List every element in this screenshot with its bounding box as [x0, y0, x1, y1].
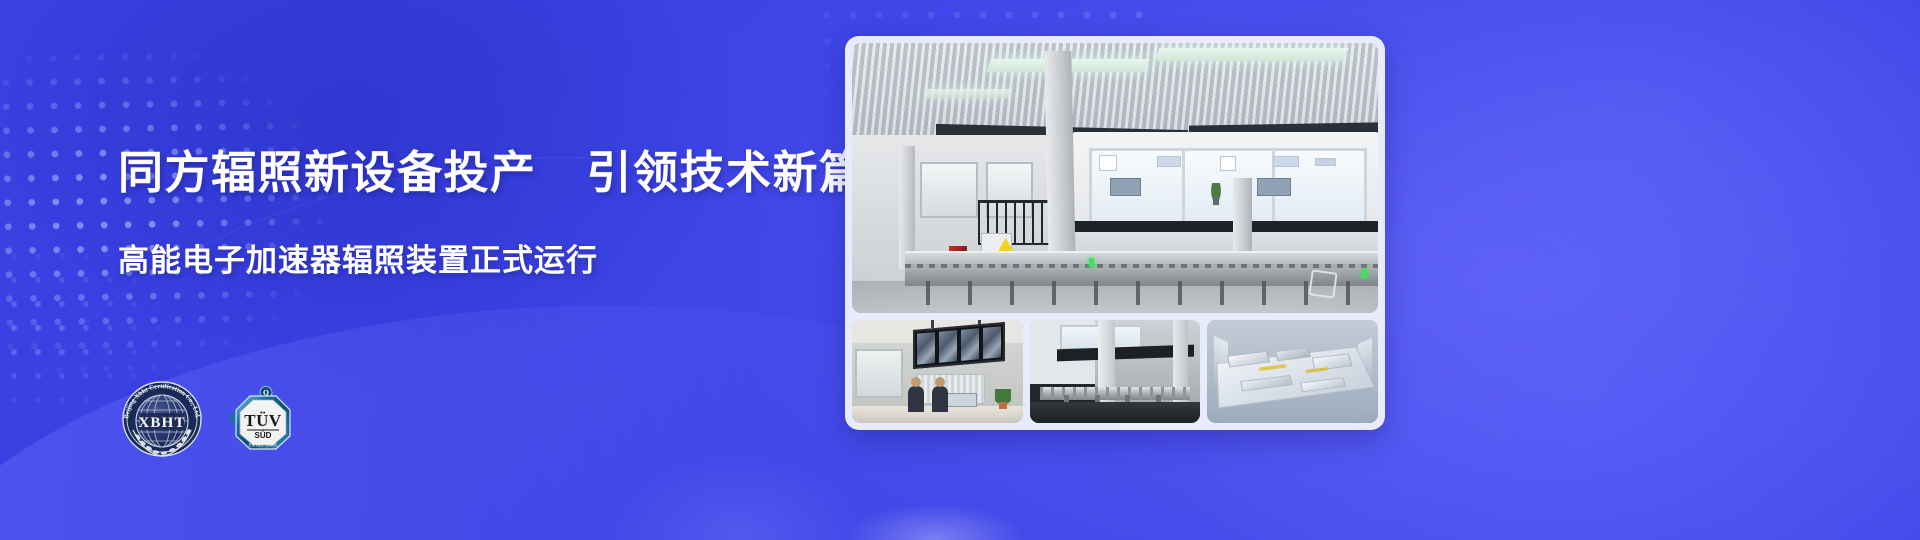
headline-primary: 同方辐照新设备投产 — [118, 147, 537, 198]
thumbnail-conveyor-system[interactable] — [1030, 320, 1201, 423]
banner-text-block: 同方辐照新设备投产 引领技术新篇章 高能电子加速器辐照装置正式运行 — [118, 146, 878, 281]
photo-collage — [845, 36, 1385, 430]
xbht-certification-icon: Beijing Xbht Certification Co., Ltd. XBH… — [118, 378, 206, 460]
svg-text:EN ISO 13485: EN ISO 13485 — [249, 443, 278, 448]
main-photo-irradiation-hall[interactable] — [852, 43, 1378, 313]
certification-logo-row: Beijing Xbht Certification Co., Ltd. XBH… — [118, 378, 292, 460]
tuv-sud-certification-icon: Q TÜV SÜD EN ISO 13485 — [230, 386, 292, 452]
thumbnail-control-room[interactable] — [852, 320, 1023, 423]
svg-text:SÜD: SÜD — [255, 431, 272, 440]
thumbnail-row — [852, 320, 1378, 423]
banner-subheadline: 高能电子加速器辐照装置正式运行 — [118, 242, 878, 281]
facility-3d-render-illustration — [1207, 320, 1378, 423]
decorative-arc-bottom — [820, 494, 1050, 540]
banner-headline: 同方辐照新设备投产 引领技术新篇章 — [118, 146, 878, 200]
promo-banner: 同方辐照新设备投产 引领技术新篇章 高能电子加速器辐照装置正式运行 — [0, 0, 1920, 540]
svg-text:XBHT: XBHT — [138, 415, 185, 431]
thumbnail-facility-render[interactable] — [1207, 320, 1378, 423]
operator-figure — [932, 386, 948, 412]
conveyor-illustration — [1030, 320, 1201, 423]
control-room-illustration — [852, 320, 1023, 423]
irradiation-hall-illustration — [852, 43, 1378, 313]
decorative-bubble — [560, 420, 920, 540]
operator-figure — [908, 386, 924, 412]
svg-text:TÜV: TÜV — [244, 411, 282, 430]
monitor-wall — [913, 322, 1005, 369]
